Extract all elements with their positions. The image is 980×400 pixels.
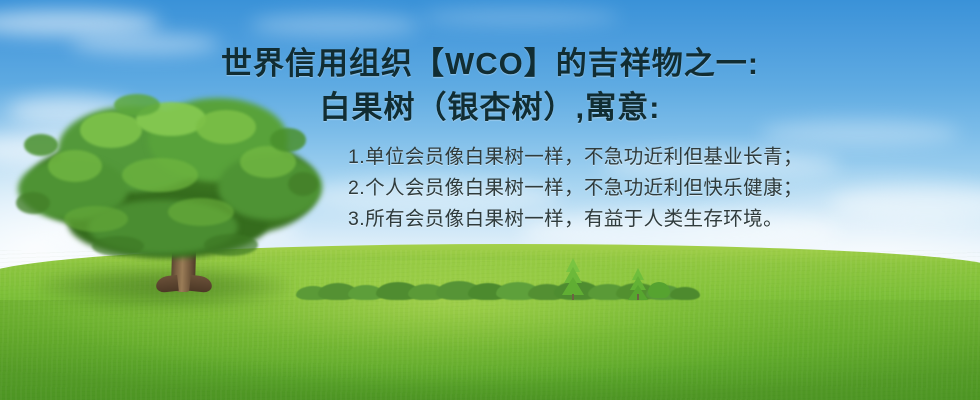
list-item: 2.个人会员像白果树一样，不急功近利但快乐健康； (348, 173, 868, 204)
banner-meaning-list: 1.单位会员像白果树一样，不急功近利但基业长青； 2.个人会员像白果树一样，不急… (348, 142, 868, 235)
list-item: 3.所有会员像白果树一样，有益于人类生存环境。 (348, 204, 868, 235)
list-item: 1.单位会员像白果树一样，不急功近利但基业长青； (348, 142, 868, 173)
banner-text-layer: 世界信用组织【WCO】的吉祥物之一: 白果树（银杏树）,寓意: 1.单位会员像白… (0, 0, 980, 400)
banner-title-line-1: 世界信用组织【WCO】的吉祥物之一: (135, 38, 845, 83)
banner-title-line-2: 白果树（银杏树）,寓意: (135, 82, 845, 127)
wco-mascot-banner: 世界信用组织【WCO】的吉祥物之一: 白果树（银杏树）,寓意: 1.单位会员像白… (0, 0, 980, 400)
